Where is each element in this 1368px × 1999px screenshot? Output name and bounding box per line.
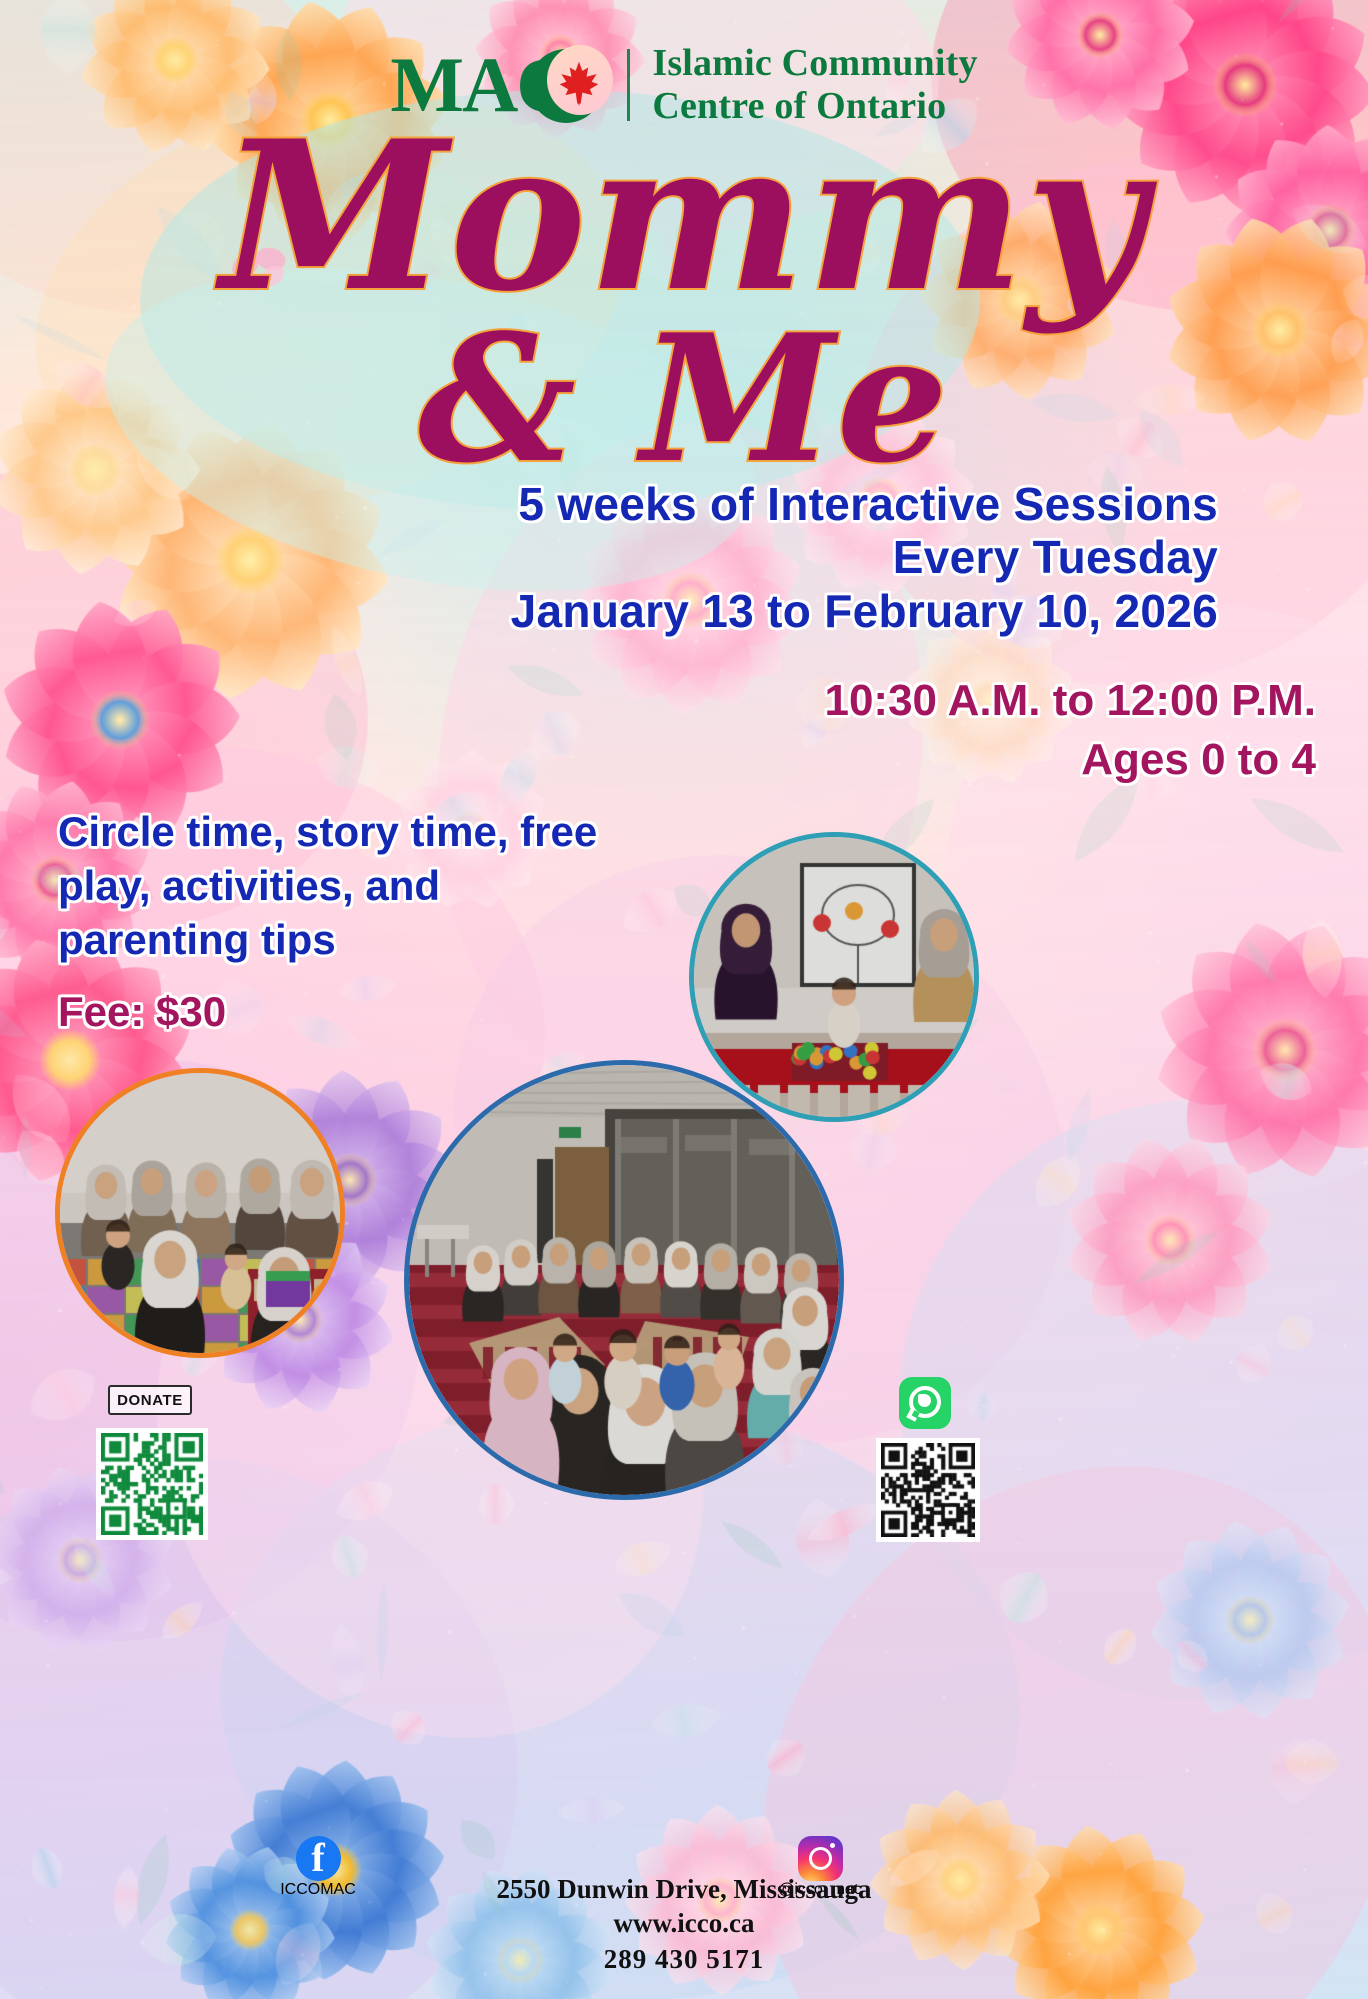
logo-divider xyxy=(627,49,630,121)
activities-list: Circle time, story time, free play, acti… xyxy=(58,805,758,966)
activities-line-2: play, activities, and xyxy=(58,859,758,913)
session-info: 5 weeks of Interactive Sessions Every Tu… xyxy=(0,478,1218,638)
phone-number[interactable]: 289 430 5171 xyxy=(0,1941,1368,1977)
fee-label: Fee: $30 xyxy=(58,988,226,1036)
maple-leaf-icon xyxy=(558,59,600,107)
organization-name: Islamic Community Centre of Ontario xyxy=(652,42,977,129)
activities-line-1: Circle time, story time, free xyxy=(58,805,758,859)
brand-header: MAC Islamic Community Centre of Ontario xyxy=(0,42,1368,129)
photo-circle-time-group-hall xyxy=(404,1060,844,1500)
donate-qr-code[interactable] xyxy=(96,1428,208,1540)
whatsapp-qr-code[interactable] xyxy=(876,1438,980,1542)
whatsapp-icon[interactable] xyxy=(899,1377,951,1429)
contact-info: 2550 Dunwin Drive, Mississauga www.icco.… xyxy=(0,1874,1368,1977)
address: 2550 Dunwin Drive, Mississauga xyxy=(0,1874,1368,1906)
poster-canvas: MAC Islamic Community Centre of Ontario … xyxy=(0,0,1368,1999)
session-weeks: 5 weeks of Interactive Sessions xyxy=(0,478,1218,531)
session-day: Every Tuesday xyxy=(0,531,1218,584)
mac-logo: MAC xyxy=(390,43,605,127)
schedule-time: 10:30 A.M. to 12:00 P.M. xyxy=(824,672,1316,731)
website[interactable]: www.icco.ca xyxy=(0,1906,1368,1941)
photo-play-mat-toys-session xyxy=(55,1068,345,1358)
activities-line-3: parenting tips xyxy=(58,913,758,967)
schedule-ages: Ages 0 to 4 xyxy=(824,731,1316,790)
donate-button[interactable]: DONATE xyxy=(108,1385,192,1415)
schedule-info: 10:30 A.M. to 12:00 P.M. Ages 0 to 4 xyxy=(824,672,1316,789)
session-dates: January 13 to February 10, 2026 xyxy=(0,585,1218,638)
